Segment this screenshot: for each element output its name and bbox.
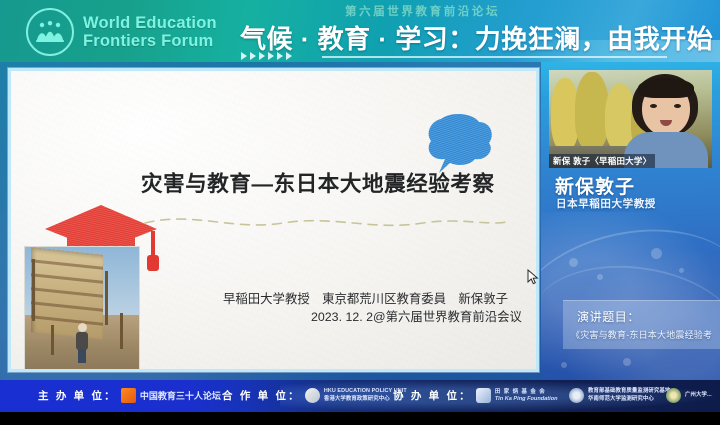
forum-logo: World Education Frontiers Forum [26,8,217,56]
presentation-stream-window: World Education Frontiers Forum 第六届世界教育前… [0,0,720,425]
talk-title-box: 演讲题目： 《灾害与教育-东日本大地震经验考 [563,300,720,349]
coorg1-name-cn: 田 家 炳 基 金 会 [495,389,558,396]
forum-logo-line2: Frontiers Forum [83,32,217,50]
presentation-slide[interactable]: 灾害与教育—东日本大地震经验考察 [8,68,539,372]
photo-person [75,323,89,363]
speaker-webcam-video[interactable]: 新保 敦子〈早稲田大学〉 [549,70,712,168]
gzhu-logo-icon [666,388,681,403]
scnu-logo-icon [569,388,584,403]
sponsor-coorganizer-group: 协 办 单 位： 田 家 炳 基 金 会 Tin Ka Ping Foundat… [393,388,558,403]
webcam-tree [575,72,609,150]
thought-bubble-icon [421,113,499,175]
photo-collapsed-building [31,247,103,340]
sponsor-host-label: 主 办 单 位： [38,388,117,403]
header-main-title: 气候 · 教育 · 学习：力挽狂澜，由我开始 [240,19,713,56]
sponsor-host-name: 中国教育三十人论坛 [140,389,221,402]
talk-title-label: 演讲题目： [577,308,640,325]
sponsor-coorg2-group: 教育部基础教育质量监测研究基地 华南师范大学监测研究中心 [569,388,670,403]
coorg1-name-en: Tin Ka Ping Foundation [495,396,558,402]
header-arrow-marks [241,52,292,60]
coorg3-name: 广州大学... [685,392,712,399]
sponsor-bar: 主 办 单 位： 中国教育三十人论坛 合 作 单 位： HKU EDUCATIO… [0,380,720,412]
forum-logo-line1: World Education [83,14,217,32]
panel-bubble [569,258,578,267]
panel-bubble [561,362,567,368]
mouse-pointer-icon [527,269,539,285]
webcam-name-label: 新保 敦子〈早稲田大学〉 [549,154,655,168]
panel-bubble [651,248,662,259]
speaker-name: 新保敦子 [555,172,635,199]
sponsor-coorg-label: 协 办 单 位： [393,388,472,403]
tin-ka-ping-logo-icon [476,388,491,403]
header-small-title: 第六届世界教育前沿论坛 [345,3,500,19]
sponsor-partner-group: 合 作 单 位： HKU EDUCATION POLICY UNIT 香港大学教… [222,388,407,403]
sponsor-host-group: 主 办 单 位： 中国教育三十人论坛 [38,388,221,403]
panel-bubble [623,358,631,366]
event-header-banner: World Education Frontiers Forum 第六届世界教育前… [0,0,720,62]
sponsor-coorg3-group: 广州大学... [666,388,712,403]
slide-subtitle-event: 2023. 12. 2@第六届世界教育前沿会议 [311,307,522,325]
coorg2-line2: 华南师范大学监测研究中心 [588,396,670,403]
speaker-panel: 新保 敦子〈早稲田大学〉 新保敦子 日本早稲田大学教授 演讲题目： 《灾害与教育… [541,62,720,380]
decorative-dashed-wave [143,209,513,235]
hku-crest-icon [305,388,320,403]
stage-area: 灾害与教育—东日本大地震经验考察 [0,62,720,380]
speaker-role: 日本早稲田大学教授 [556,196,656,211]
slide-subtitle-affiliation: 早稲田大学教授 東京都荒川区教育委員 新保敦子 [223,289,508,307]
panel-bubble [597,274,603,280]
header-rule [322,56,667,58]
sponsor-partner-label: 合 作 单 位： [222,388,301,403]
earthquake-damage-photo [24,246,140,370]
slide-title: 灾害与教育—东日本大地震经验考察 [141,167,531,198]
panel-bubble [679,268,684,273]
bottom-letterbox [0,412,720,425]
host-logo-icon [121,388,136,403]
coorg2-line1: 教育部基础教育质量监测研究基地 [588,388,670,395]
people-in-circle-icon [26,8,74,56]
talk-title-text: 《灾害与教育-东日本大地震经验考 [571,328,712,341]
